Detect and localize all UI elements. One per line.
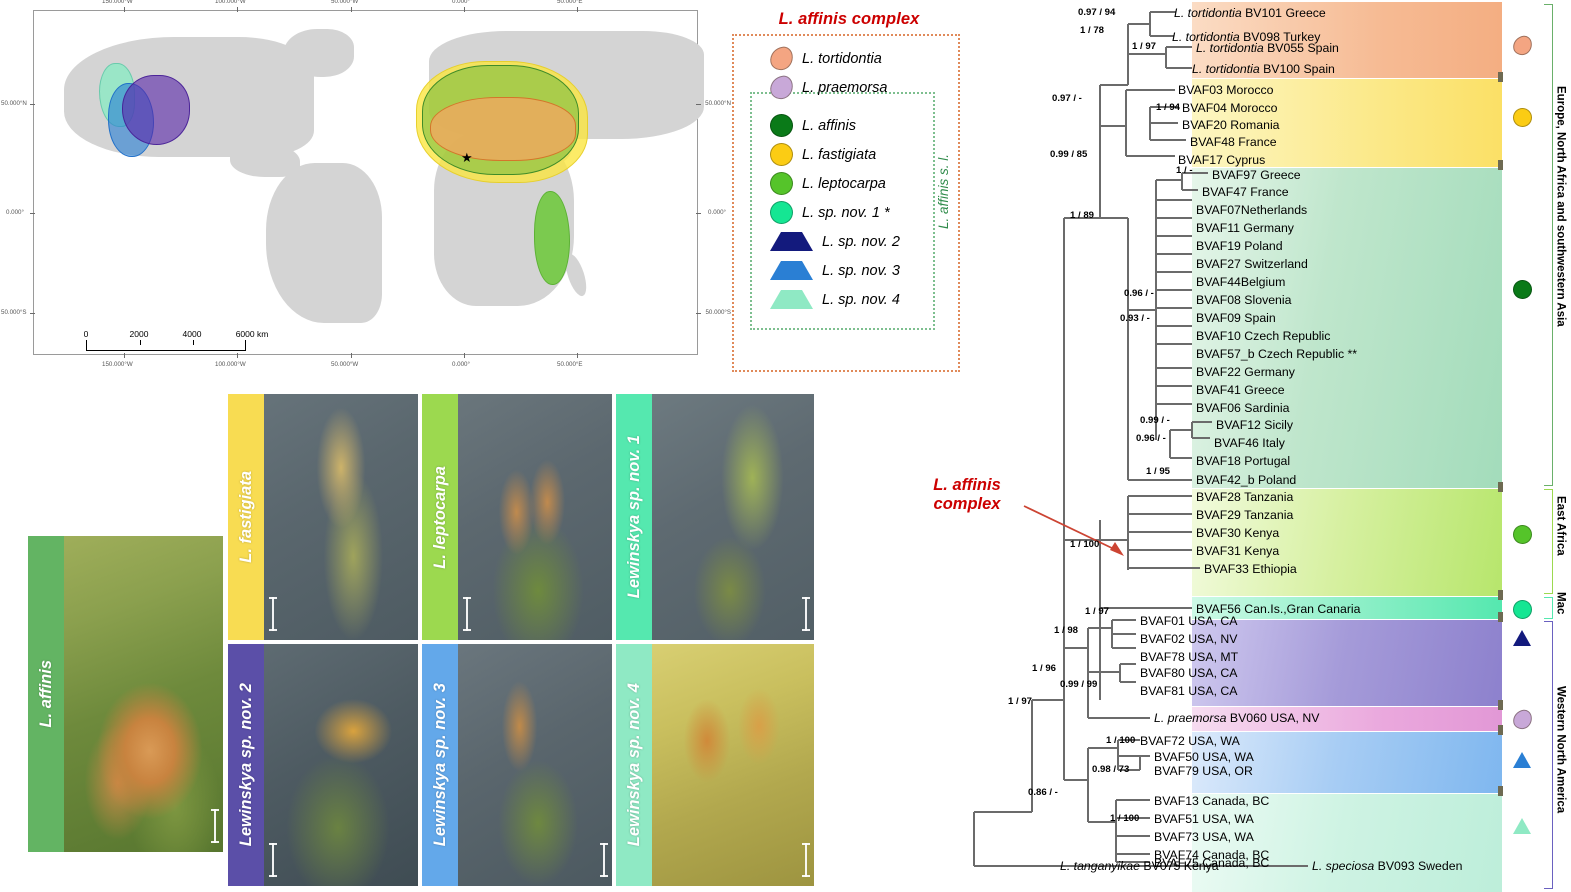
region-bracket-east-africa [1544,489,1553,594]
lon-tick [237,353,238,358]
region-label-europe: Europe, North Africa and southwestern As… [1554,86,1566,327]
lon-tick [464,7,465,12]
lon-label-top: 50.000°W [331,0,358,5]
photo-tab: Lewinskya sp. nov. 3 [422,644,458,886]
legend-item-label: L. affinis [802,118,856,134]
photo-tab: L. leptocarpa [422,394,458,640]
support-value: 0.99 / 85 [1050,150,1087,160]
tree-tip[interactable]: BVAF27 Switzerland [1196,258,1308,270]
photo-image [264,394,418,640]
range-blob-icon [769,46,795,72]
circle-icon [770,201,793,224]
photo-label: Lewinskya sp. nov. 1 [625,435,644,598]
legend-item-sp-nov-2[interactable]: L. sp. nov. 2 [770,227,900,256]
legend-item-label: L. leptocarpa [802,176,886,192]
landmass-south-america [266,163,382,323]
clade-edge-mark [1498,612,1503,622]
species-symbol-sp-nov-4 [1513,818,1531,834]
region-bracket-macaronesia [1544,597,1553,619]
species-symbol-sp-nov-3 [1513,752,1531,768]
support-value: 0.99 / 99 [1060,680,1097,690]
tree-tip[interactable]: BVAF04 Morocco [1182,102,1277,114]
legend-item-praemorsa[interactable]: L. praemorsa [770,73,887,102]
tree-tip[interactable]: BVAF09 Spain [1196,312,1276,324]
legend-item-sp-nov-1[interactable]: L. sp. nov. 1 * [770,198,890,227]
clade-edge-mark [1498,160,1503,170]
legend-item-label: L. praemorsa [802,80,887,96]
lon-label-bottom: 150.000°W [102,361,133,368]
range-blob-icon [769,75,795,101]
photo-panel-sp-nov-3: Lewinskya sp. nov. 3 [422,644,612,886]
region-label-east-africa: East Africa [1554,496,1566,556]
tree-tip[interactable]: BVAF44Belgium [1196,276,1285,288]
tree-tip[interactable]: L. tanganyikae BV075 Kenya [1060,860,1219,872]
photo-scalebar [805,843,807,877]
support-value: 1 / 97 [1132,42,1156,52]
clade-edge-mark [1498,590,1503,600]
legend-item-label: L. sp. nov. 1 * [802,205,890,221]
legend-item-fastigiata[interactable]: L. fastigiata [770,140,876,169]
photo-label: L. affinis [37,660,56,728]
tree-tip[interactable]: BVAF12 Sicily [1216,419,1293,431]
lat-label-left: 0.000° [6,209,24,216]
annotation-arrow-icon [1020,500,1130,560]
photo-tab: Lewinskya sp. nov. 2 [228,644,264,886]
photo-panel-fastigiata: L. fastigiata [228,394,418,640]
tree-tip[interactable]: BVAF51 USA, WA [1154,813,1254,825]
tree-tip[interactable]: BVAF31 Kenya [1196,545,1279,557]
lat-tick [30,104,35,105]
species-symbol-fastigiata [1513,108,1532,127]
support-value: 1 / 96 [1032,664,1056,674]
region-label-macaronesia: Mac [1554,592,1566,614]
support-value: 1 / 94 [1156,103,1180,113]
tree-annotation-affinis-complex: L. affinis complex [902,476,1032,514]
tree-tip[interactable]: BVAF07Netherlands [1196,204,1307,216]
support-value: 0.98 / 73 [1092,765,1129,775]
support-value: 1 / 100 [1110,814,1139,824]
tree-tip[interactable]: BVAF33 Ethiopia [1204,563,1297,575]
tree-tip[interactable]: BVAF10 Czech Republic [1196,330,1330,342]
photo-label: Lewinskya sp. nov. 4 [625,683,644,846]
legend-item-tortidontia[interactable]: L. tortidontia [770,44,882,73]
lat-tick [696,313,701,314]
support-value: 1 / 95 [1146,467,1170,477]
photo-image [652,644,814,886]
support-value: 1 / 89 [1070,211,1094,221]
tree-tip[interactable]: BVAF02 USA, NV [1140,633,1238,645]
species-symbol-sp-nov-1 [1513,600,1532,619]
scalebar-label: 4000 [183,329,202,339]
legend-item-sp-nov-3[interactable]: L. sp. nov. 3 [770,256,900,285]
legend-sensu-lato-label: L. affinis s. l. [936,154,951,229]
clade-edge-mark [1498,700,1503,710]
tree-tip[interactable]: BVAF97 Greece [1212,169,1301,181]
lon-tick [237,7,238,12]
scalebar-label: 0 [84,329,89,339]
lat-label-left: 50.000°N [1,100,27,107]
legend-item-affinis[interactable]: L. affinis [770,111,856,140]
legend-item-label: L. sp. nov. 3 [822,263,900,279]
tree-tip[interactable]: BVAF30 Kenya [1196,527,1279,539]
lat-tick [696,104,701,105]
tree-tip[interactable]: BVAF41 Greece [1196,384,1285,396]
photo-tab: L. fastigiata [228,394,264,640]
photo-tab: Lewinskya sp. nov. 1 [616,394,652,640]
tree-tip[interactable]: BVAF11 Germany [1196,222,1294,234]
photo-scalebar [805,597,807,631]
map-frame: ★ 50.000°N 0.000° 50.000°S 50.000°N 0.00… [33,10,698,355]
tree-tip[interactable]: L. speciosa BV093 Sweden [1312,860,1462,872]
lon-label-top: 50.000°E [557,0,583,5]
lat-label-left: 50.000°S [1,309,27,316]
support-value: 1 / 100 [1070,540,1099,550]
photo-scalebar [272,597,274,631]
lon-tick [351,353,352,358]
photo-tab: Lewinskya sp. nov. 4 [616,644,652,886]
range-sp-nov-2 [122,75,190,145]
tree-tip[interactable]: BVAF79 USA, OR [1154,765,1253,777]
photo-label: Lewinskya sp. nov. 3 [431,683,450,846]
circle-icon [770,143,793,166]
photo-label: L. fastigiata [237,471,256,563]
tree-tip[interactable]: BVAF01 USA, CA [1140,615,1238,627]
triangle-icon [770,261,813,280]
clade-edge-mark [1498,72,1503,82]
photo-image [264,644,418,886]
tree-tip[interactable]: BVAF42_b Poland [1196,474,1296,486]
photo-image [652,394,814,640]
lon-tick [577,353,578,358]
legend-title: L. affinis complex [730,10,968,29]
clade-edge-mark [1498,725,1503,735]
photo-label: L. leptocarpa [431,466,450,569]
species-legend: L. affinis complex L. tortidontia L. pra… [722,4,972,376]
species-symbol-leptocarpa [1513,525,1532,544]
triangle-icon [770,232,813,251]
photo-scalebar [466,597,468,631]
circle-icon [770,172,793,195]
legend-item-label: L. sp. nov. 4 [822,292,900,308]
region-bracket-western-north-america [1544,621,1553,889]
support-value: 0.97 / 94 [1078,8,1115,18]
landmass-greenland [284,29,354,77]
photo-tab: L. affinis [28,536,64,852]
phylogenetic-tree: L. affinis complex L. tortidontia BV101 … [960,0,1571,886]
tree-tip[interactable]: L. tortidontia BV100 Spain [1192,63,1335,75]
lat-tick [30,213,35,214]
support-value: 0.97 / - [1052,94,1082,104]
support-value: 0.96 / - [1136,434,1166,444]
tree-tip[interactable]: BVAF18 Portugal [1196,455,1290,467]
triangle-icon [770,290,813,309]
photo-panel-affinis: L. affinis [28,536,223,852]
lon-tick [464,353,465,358]
scalebar-label: 2000 [130,329,149,339]
support-value: 0.93 / - [1120,314,1150,324]
legend-item-leptocarpa[interactable]: L. leptocarpa [770,169,886,198]
tree-tip[interactable]: BVAF29 Tanzania [1196,509,1293,521]
tree-tip[interactable]: BVAF46 Italy [1214,437,1285,449]
photo-panel-sp-nov-2: Lewinskya sp. nov. 2 [228,644,418,886]
lon-label-top: 150.000°W [102,0,133,5]
lat-tick [696,213,701,214]
support-value: 1 / 100 [1106,736,1135,746]
tree-tip[interactable]: BVAF72 USA, WA [1140,735,1240,747]
tree-tip[interactable]: L. tortidontia BV055 Spain [1196,42,1339,54]
distribution-map: ★ 50.000°N 0.000° 50.000°S 50.000°N 0.00… [0,0,720,378]
lon-label-bottom: 100.000°W [215,361,246,368]
tree-tip[interactable]: BVAF08 Slovenia [1196,294,1291,306]
photo-image [458,644,612,886]
region-bracket-europe [1544,4,1553,486]
lon-label-bottom: 0.000° [452,361,470,368]
lat-tick [30,313,35,314]
tree-tip[interactable]: BVAF03 Morocco [1178,84,1273,96]
tree-tip[interactable]: L. tortidontia BV101 Greece [1174,7,1326,19]
lon-label-top: 100.000°W [215,0,246,5]
legend-item-label: L. fastigiata [802,147,876,163]
lon-label-bottom: 50.000°E [557,361,583,368]
clade-edge-mark [1498,786,1503,796]
map-scalebar: 0 2000 4000 6000 km [86,329,246,351]
support-value: 0.86 / - [1028,788,1058,798]
photo-image [64,536,223,852]
lon-tick [124,353,125,358]
support-value: 1 / 97 [1008,697,1032,707]
tree-tip[interactable]: BVAF80 USA, CA [1140,667,1238,679]
photo-scalebar [272,843,274,877]
tree-tip[interactable]: BVAF06 Sardinia [1196,402,1289,414]
tree-tip[interactable]: BVAF22 Germany [1196,366,1295,378]
clade-edge-mark [1498,482,1503,492]
photo-panel-leptocarpa: L. leptocarpa [422,394,612,640]
tree-tip[interactable]: L. praemorsa BV060 USA, NV [1154,712,1319,724]
photo-panel-sp-nov-4: Lewinskya sp. nov. 4 [616,644,814,886]
legend-item-label: L. tortidontia [802,51,882,67]
photo-panel-sp-nov-1: Lewinskya sp. nov. 1 [616,394,814,640]
photo-image [458,394,612,640]
photo-scalebar [603,843,605,877]
tree-tip[interactable]: BVAF57_b Czech Republic ** [1196,348,1357,360]
tree-tip[interactable]: BVAF19 Poland [1196,240,1283,252]
tree-tip[interactable]: BVAF48 France [1190,136,1277,148]
lon-label-bottom: 50.000°W [331,361,358,368]
tree-tip[interactable]: BVAF73 USA, WA [1154,831,1254,843]
support-value: 0.96 / - [1124,289,1154,299]
lon-tick [577,7,578,12]
tree-tip[interactable]: BVAF28 Tanzania [1196,491,1293,503]
photo-scalebar [214,809,216,843]
range-tortidontia [430,97,576,161]
support-value: 1 / 78 [1080,26,1104,36]
scalebar-label: 6000 km [236,329,269,339]
tree-tip[interactable]: BVAF13 Canada, BC [1154,795,1269,807]
legend-item-sp-nov-4[interactable]: L. sp. nov. 4 [770,285,900,314]
lon-tick [124,7,125,12]
tree-tip[interactable]: BVAF47 France [1202,186,1289,198]
species-symbol-affinis [1513,280,1532,299]
tree-tip[interactable]: BVAF50 USA, WA [1154,751,1254,763]
support-value: 1 / - [1176,166,1193,176]
tree-tip[interactable]: BVAF81 USA, CA [1140,685,1238,697]
circle-icon [770,114,793,137]
region-label-western-north-america: Western North America [1554,686,1566,813]
support-value: 0.99 / - [1140,416,1170,426]
tree-tip[interactable]: BVAF20 Romania [1182,119,1280,131]
lon-label-top: 0.000° [452,0,470,5]
lon-tick [351,7,352,12]
tree-tip[interactable]: BVAF78 USA, MT [1140,651,1238,663]
support-value: 1 / 97 [1085,607,1109,617]
legend-item-label: L. sp. nov. 2 [822,234,900,250]
species-symbol-sp-nov-2 [1513,630,1531,646]
support-value: 1 / 98 [1054,626,1078,636]
star-marker: ★ [461,151,473,164]
photo-label: Lewinskya sp. nov. 2 [237,683,256,846]
